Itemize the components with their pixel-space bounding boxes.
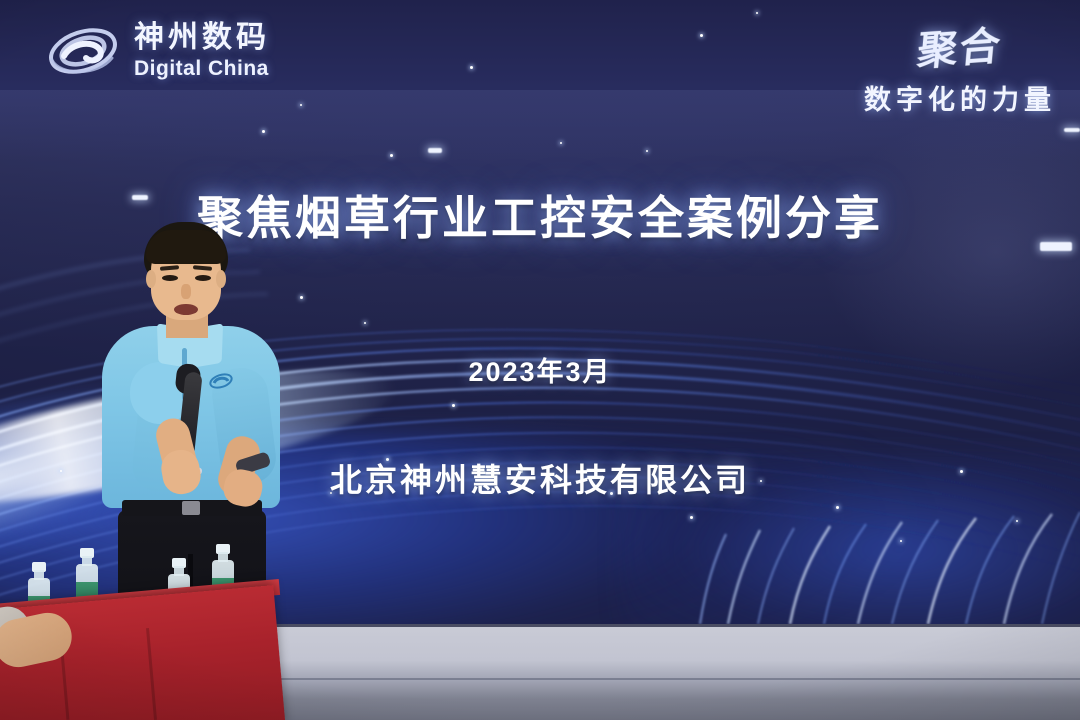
light-particle [364, 322, 366, 324]
light-particle [700, 34, 703, 37]
light-particle [390, 154, 393, 157]
light-particle [690, 516, 693, 519]
calligraphy-text: 聚合 [861, 9, 1060, 80]
logo-chinese-text: 神州数码 [134, 23, 270, 53]
light-particle [1016, 520, 1018, 522]
presenter-eye-right [195, 275, 211, 281]
logo-english-text: Digital China [134, 58, 270, 79]
presenter-belt-buckle [182, 501, 200, 515]
light-particle [300, 296, 303, 299]
light-particle [470, 66, 473, 69]
presenter-ear-right [216, 270, 226, 288]
presenter-nose [181, 284, 191, 299]
shirt-chest-logo-icon [208, 370, 234, 392]
light-particle [300, 104, 302, 106]
event-brand-mark: 聚合 数字化的力量 [864, 16, 1056, 117]
digital-china-logo: 神州数码 Digital China [46, 18, 270, 84]
presenter-hair-fringe [146, 230, 226, 264]
brand-subtitle: 数字化的力量 [864, 78, 1056, 117]
presenter-ear-left [146, 270, 156, 288]
light-particle [756, 12, 758, 14]
light-particle [646, 150, 648, 152]
presenter-figure [96, 222, 286, 624]
presenter-mouth [174, 304, 198, 315]
light-streak [1064, 128, 1080, 132]
presenter-eye-left [162, 275, 178, 281]
light-particle [560, 142, 562, 144]
light-particle [262, 130, 265, 133]
light-particle [452, 404, 455, 407]
conference-stage-photo: 神州数码 Digital China 聚合 数字化的力量 聚焦烟草行业工控安全案… [0, 0, 1080, 720]
digital-china-swirl-logo [46, 18, 120, 84]
light-streak [428, 148, 442, 153]
light-particle [836, 506, 839, 509]
light-particle [900, 540, 902, 542]
